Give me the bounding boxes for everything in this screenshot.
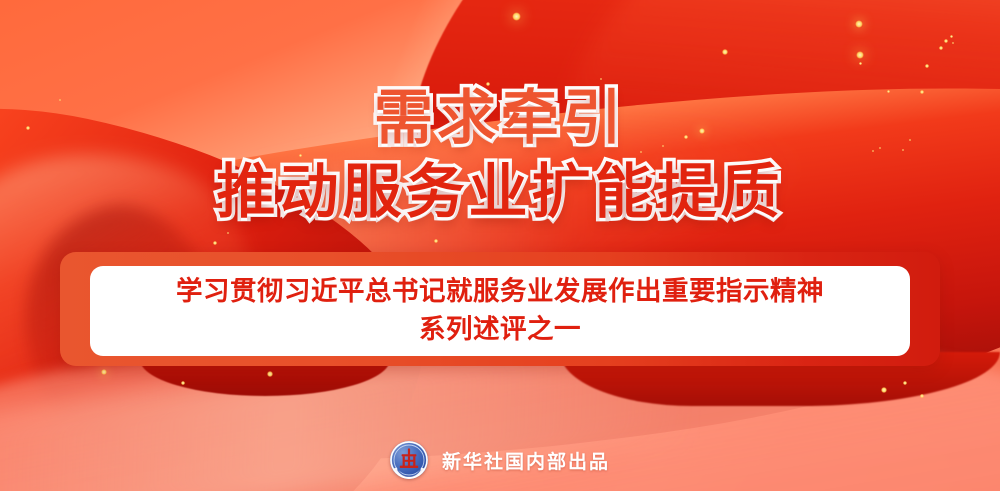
subtitle-line-1: 学习贯彻习近平总书记就服务业发展作出重要指示精神 — [176, 273, 824, 311]
subtitle-panel: 学习贯彻习近平总书记就服务业发展作出重要指示精神 系列述评之一 — [60, 252, 940, 366]
xinhua-agency-logo-icon — [390, 441, 428, 479]
footer-credit: 新华社国内部出品 — [0, 441, 1000, 479]
headline-block: 需求牵引 推动服务业扩能提质 — [0, 88, 1000, 222]
headline-line-1: 需求牵引 — [0, 88, 1000, 148]
poster-canvas: 需求牵引 推动服务业扩能提质 学习贯彻习近平总书记就服务业发展作出重要指示精神 … — [0, 0, 1000, 491]
headline-line-2: 推动服务业扩能提质 — [0, 162, 1000, 222]
subtitle-white-box: 学习贯彻习近平总书记就服务业发展作出重要指示精神 系列述评之一 — [90, 266, 910, 356]
footer-text: 新华社国内部出品 — [442, 447, 610, 474]
subtitle-line-2: 系列述评之一 — [419, 311, 581, 349]
